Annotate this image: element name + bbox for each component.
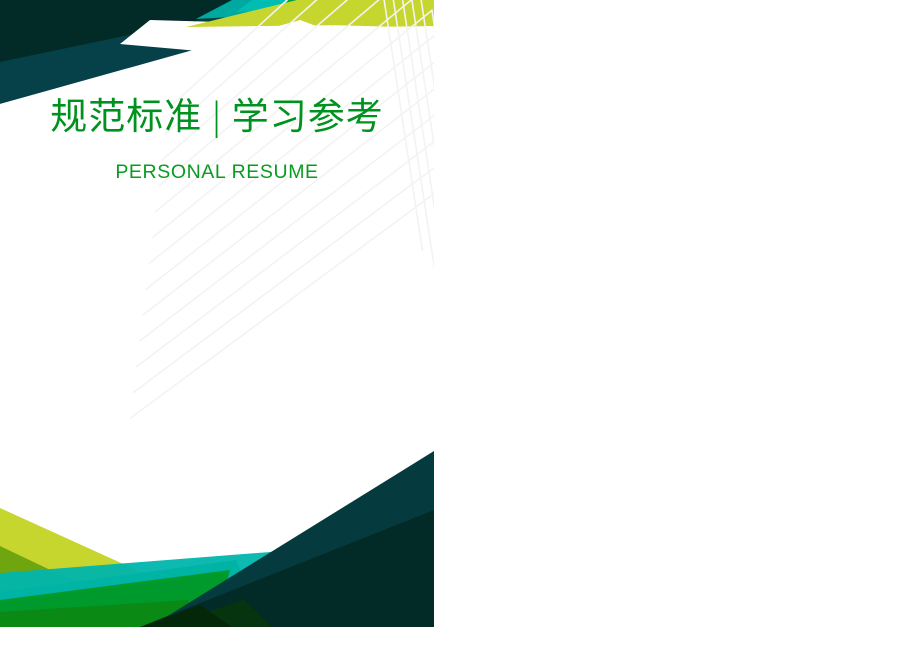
screenshot-canvas: 规范标准|学习参考 PERSONAL RESUME xyxy=(0,0,920,651)
slide-page: 规范标准|学习参考 PERSONAL RESUME xyxy=(0,0,434,627)
slide-decoration-artwork xyxy=(0,0,434,627)
